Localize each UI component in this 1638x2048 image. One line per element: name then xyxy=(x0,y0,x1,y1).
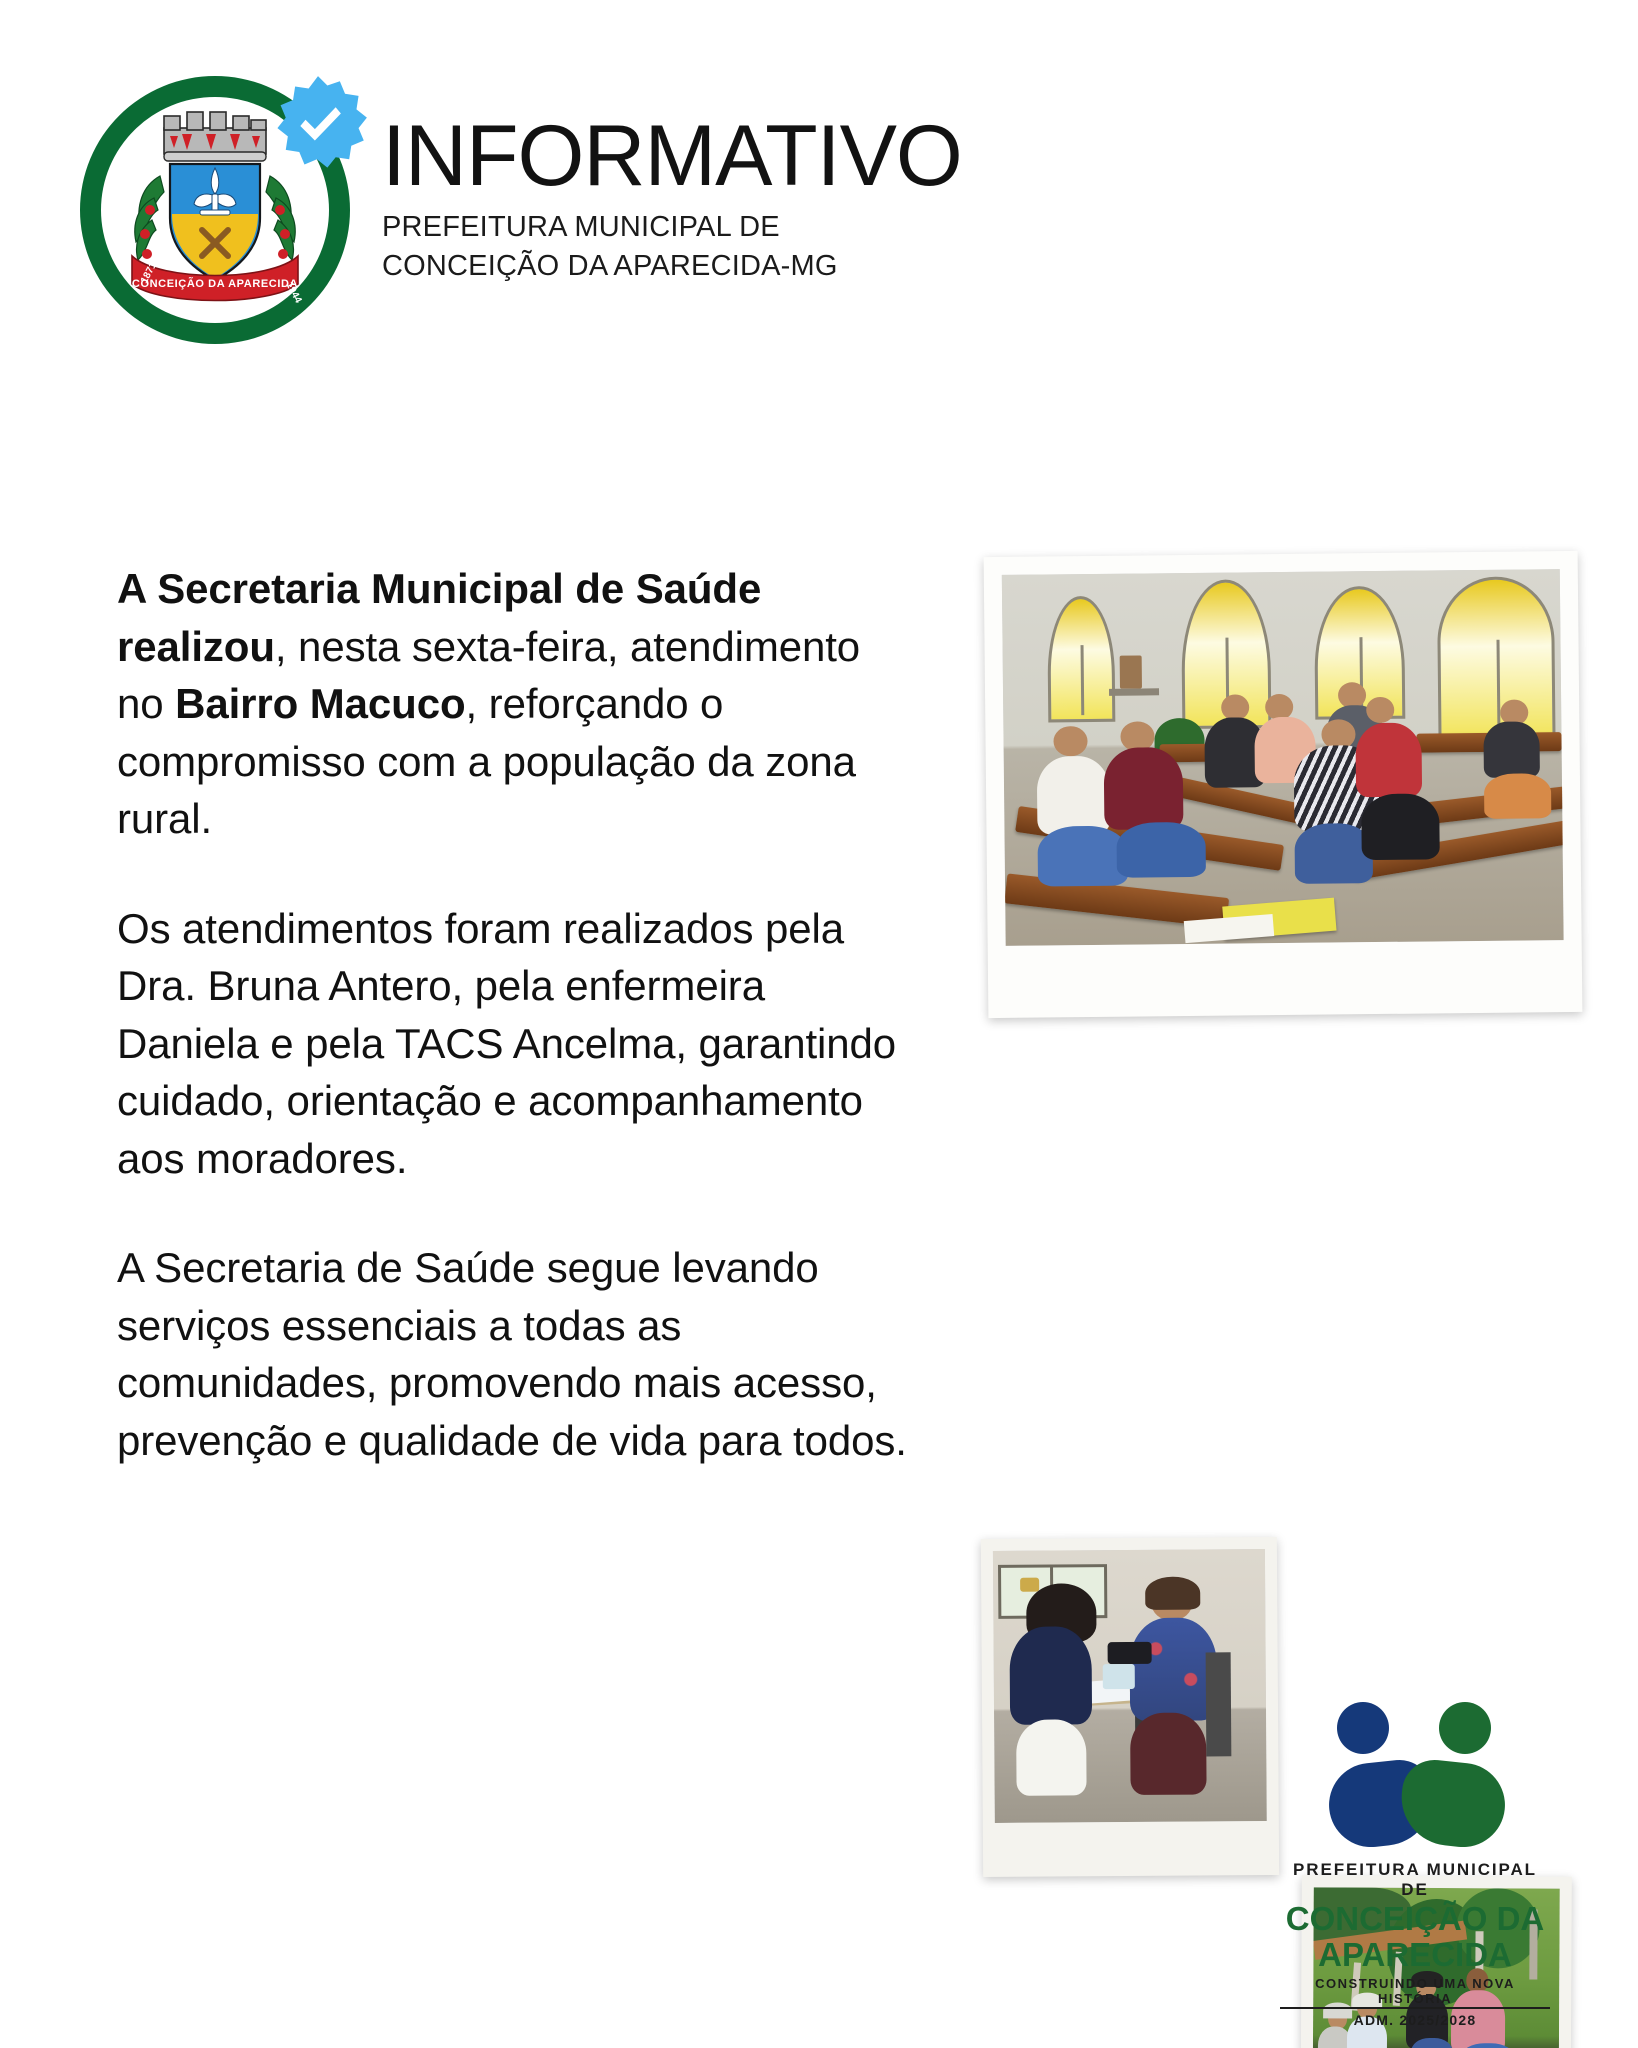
two-people-arc-logo-icon xyxy=(1315,1700,1515,1850)
paragraph-2: Os atendimentos foram realizados pela Dr… xyxy=(117,900,917,1188)
footer-line-city-a: CONCEIÇÃO DA xyxy=(1280,1902,1550,1936)
photo-chapel-waiting-room xyxy=(984,551,1583,1018)
header-subtitle: PREFEITURA MUNICIPAL DE CONCEIÇÃO DA APA… xyxy=(382,208,962,287)
logo-body-green xyxy=(1397,1757,1509,1851)
crest-year-right: 1944 xyxy=(283,280,303,305)
photo-blood-pressure-check xyxy=(981,1537,1279,1877)
logo-head-blue xyxy=(1337,1702,1389,1754)
photo-image xyxy=(993,1549,1267,1823)
verified-check-badge-icon xyxy=(266,74,370,178)
article-body: A Secretaria Municipal de Saúde realizou… xyxy=(117,560,917,1469)
page-title: INFORMATIVO xyxy=(382,116,962,198)
footer-line-admin-term: ADM. 2025/2028 xyxy=(1280,2012,1550,2028)
photo-image xyxy=(1002,569,1564,946)
municipal-coat-of-arms-icon: CONCEIÇÃO DA APARECIDA 1871 1944 xyxy=(72,58,372,358)
page-header: CONCEIÇÃO DA APARECIDA 1871 1944 INFORMA… xyxy=(72,58,962,358)
paragraph-3: A Secretaria de Saúde segue levando serv… xyxy=(117,1239,917,1469)
footer-line-city-b: APARECIDA xyxy=(1280,1938,1550,1972)
logo-head-green xyxy=(1439,1702,1491,1754)
header-titles: INFORMATIVO PREFEITURA MUNICIPAL DE CONC… xyxy=(382,58,962,287)
crest-ribbon-label: CONCEIÇÃO DA APARECIDA xyxy=(132,277,298,290)
informativo-page: CONCEIÇÃO DA APARECIDA 1871 1944 INFORMA… xyxy=(0,0,1638,2048)
header-subtitle-line1: PREFEITURA MUNICIPAL DE xyxy=(382,208,962,247)
footer-line-slogan: CONSTRUINDO UMA NOVA HISTÓRIA xyxy=(1280,1976,1550,2009)
footer-line-prefeitura: PREFEITURA MUNICIPAL DE xyxy=(1280,1860,1550,1900)
footer-brand-logo: PREFEITURA MUNICIPAL DE CONCEIÇÃO DA APA… xyxy=(1280,1700,1550,2028)
paragraph-1: A Secretaria Municipal de Saúde realizou… xyxy=(117,560,917,848)
header-subtitle-line2: CONCEIÇÃO DA APARECIDA-MG xyxy=(382,247,962,286)
